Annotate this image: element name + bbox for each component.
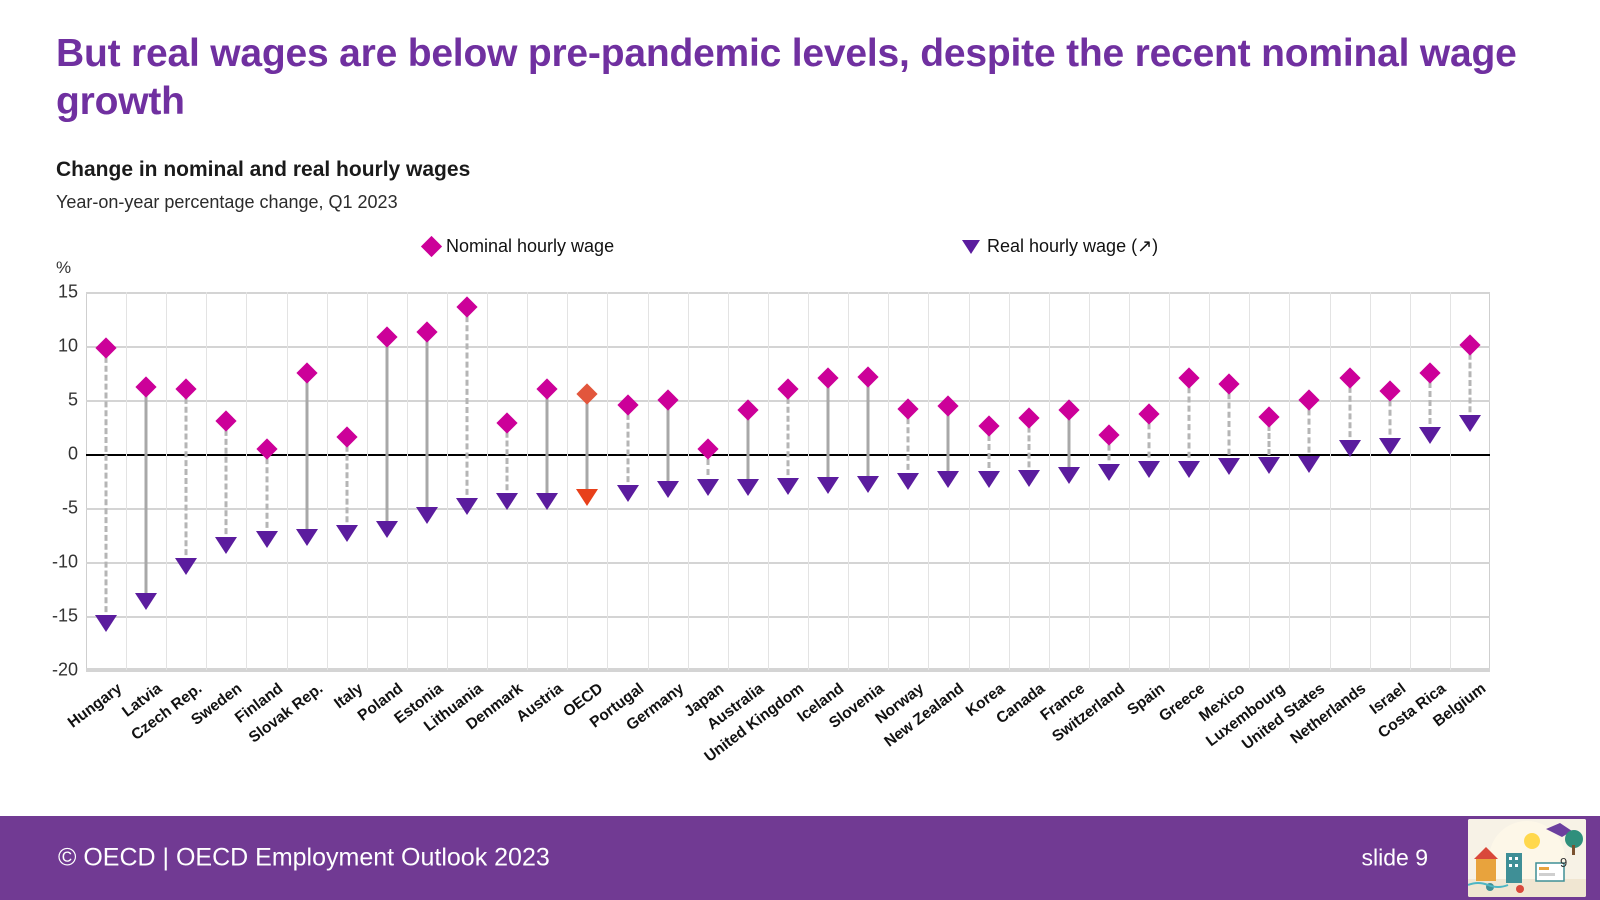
connector-line	[345, 437, 348, 531]
nominal-wage-marker[interactable]	[497, 412, 518, 433]
real-wage-marker[interactable]	[1058, 467, 1080, 484]
vertical-gridline	[287, 292, 288, 670]
vertical-gridline	[166, 292, 167, 670]
nominal-wage-marker[interactable]	[1339, 368, 1360, 389]
vertical-gridline	[1209, 292, 1210, 670]
real-wage-marker[interactable]	[897, 473, 919, 490]
illustration-icon: 9	[1468, 819, 1586, 897]
vertical-gridline	[607, 292, 608, 670]
connector-line	[1468, 345, 1471, 421]
nominal-wage-marker[interactable]	[737, 399, 758, 420]
real-wage-marker[interactable]	[817, 477, 839, 494]
vertical-gridline	[567, 292, 568, 670]
real-wage-marker[interactable]	[215, 537, 237, 554]
chart-legend: Nominal hourly wage Real hourly wage (↗)	[0, 236, 1600, 262]
real-wage-marker[interactable]	[978, 471, 1000, 488]
nominal-wage-marker[interactable]	[818, 368, 839, 389]
vertical-gridline	[928, 292, 929, 670]
nominal-wage-marker[interactable]	[1219, 373, 1240, 394]
nominal-wage-marker[interactable]	[1299, 389, 1320, 410]
real-wage-marker[interactable]	[1419, 427, 1441, 444]
vertical-gridline	[728, 292, 729, 670]
vertical-gridline	[367, 292, 368, 670]
gridline--20	[86, 670, 1490, 672]
vertical-gridline	[848, 292, 849, 670]
real-wage-marker[interactable]	[256, 531, 278, 548]
y-tick-label: -10	[32, 552, 78, 573]
vertical-gridline	[527, 292, 528, 670]
vertical-gridline	[1330, 292, 1331, 670]
real-wage-marker[interactable]	[777, 478, 799, 495]
real-wage-marker[interactable]	[576, 489, 598, 506]
legend-item-nominal[interactable]: Nominal hourly wage	[424, 236, 614, 257]
vertical-gridline	[407, 292, 408, 670]
y-tick-label: 5	[32, 390, 78, 411]
plot-right-border	[1489, 292, 1490, 670]
real-wage-marker[interactable]	[1218, 458, 1240, 475]
vertical-gridline	[246, 292, 247, 670]
vertical-gridline	[1370, 292, 1371, 670]
vertical-gridline	[648, 292, 649, 670]
connector-line	[746, 410, 749, 486]
nominal-wage-marker[interactable]	[1058, 399, 1079, 420]
vertical-gridline	[969, 292, 970, 670]
gridline--5	[86, 508, 1490, 510]
vertical-gridline	[1450, 292, 1451, 670]
nominal-wage-marker[interactable]	[537, 379, 558, 400]
connector-line	[265, 449, 268, 538]
real-wage-marker[interactable]	[336, 525, 358, 542]
real-wage-marker[interactable]	[135, 593, 157, 610]
gridline--15	[86, 616, 1490, 618]
vertical-gridline	[487, 292, 488, 670]
nominal-wage-marker[interactable]	[697, 438, 718, 459]
nominal-wage-marker[interactable]	[136, 376, 157, 397]
footer-slide-number: slide 9	[1362, 845, 1428, 872]
y-axis-unit: %	[56, 258, 71, 278]
nominal-wage-marker[interactable]	[1259, 407, 1280, 428]
legend-label-real: Real hourly wage (↗)	[987, 236, 1158, 257]
real-wage-marker[interactable]	[1459, 415, 1481, 432]
gridline--10	[86, 562, 1490, 564]
connector-line	[787, 389, 790, 484]
y-tick-label: 0	[32, 444, 78, 465]
real-wage-marker[interactable]	[536, 493, 558, 510]
nominal-wage-marker[interactable]	[256, 438, 277, 459]
diamond-marker-icon	[421, 236, 442, 257]
vertical-gridline	[327, 292, 328, 670]
vertical-gridline	[888, 292, 889, 670]
connector-line	[546, 389, 549, 499]
page-title: But real wages are below pre-pandemic le…	[56, 30, 1536, 125]
nominal-wage-marker[interactable]	[777, 379, 798, 400]
gridline-15	[86, 292, 1490, 294]
real-wage-marker[interactable]	[1178, 461, 1200, 478]
real-wage-marker[interactable]	[175, 558, 197, 575]
triangle-down-marker-icon	[962, 240, 980, 254]
connector-line	[1228, 384, 1231, 464]
real-wage-marker[interactable]	[697, 479, 719, 496]
vertical-gridline	[1089, 292, 1090, 670]
connector-line	[425, 332, 428, 513]
vertical-gridline	[688, 292, 689, 670]
connector-line	[225, 421, 228, 543]
vertical-gridline	[447, 292, 448, 670]
real-wage-marker[interactable]	[376, 521, 398, 538]
vertical-gridline	[1049, 292, 1050, 670]
thumbnail-number: 9	[1560, 855, 1567, 870]
vertical-gridline	[808, 292, 809, 670]
real-wage-marker[interactable]	[1339, 440, 1361, 457]
connector-line	[105, 348, 108, 621]
real-wage-marker[interactable]	[737, 479, 759, 496]
real-wage-marker[interactable]	[617, 485, 639, 502]
nominal-wage-marker[interactable]	[416, 321, 437, 342]
connector-line	[867, 377, 870, 482]
vertical-gridline	[1249, 292, 1250, 670]
slide-footer: © OECD | OECD Employment Outlook 2023 sl…	[0, 816, 1600, 900]
vertical-gridline	[1169, 292, 1170, 670]
legend-item-real[interactable]: Real hourly wage (↗)	[962, 236, 1158, 257]
real-wage-marker[interactable]	[95, 615, 117, 632]
connector-line	[586, 394, 589, 496]
footer-copyright: © OECD | OECD Employment Outlook 2023	[58, 844, 550, 873]
connector-line	[145, 387, 148, 599]
real-wage-marker[interactable]	[1138, 461, 1160, 478]
vertical-gridline	[1410, 292, 1411, 670]
x-tick-label: Hungary	[65, 680, 126, 732]
real-wage-marker[interactable]	[456, 498, 478, 515]
nominal-wage-marker[interactable]	[176, 379, 197, 400]
y-axis-tick-labels: 151050-5-10-15-20	[24, 292, 78, 670]
vertical-gridline	[1289, 292, 1290, 670]
y-tick-label: 15	[32, 282, 78, 303]
vertical-gridline	[126, 292, 127, 670]
vertical-gridline	[768, 292, 769, 670]
nominal-wage-marker[interactable]	[1098, 424, 1119, 445]
slide-root: But real wages are below pre-pandemic le…	[0, 0, 1600, 900]
footer-thumbnail-image: 9	[1468, 819, 1586, 897]
plot-left-border	[86, 292, 87, 670]
real-wage-marker[interactable]	[1258, 457, 1280, 474]
nominal-wage-marker[interactable]	[216, 410, 237, 431]
nominal-wage-marker[interactable]	[1018, 408, 1039, 429]
nominal-wage-marker[interactable]	[296, 362, 317, 383]
chart-subsubtitle: Year-on-year percentage change, Q1 2023	[56, 192, 398, 213]
nominal-wage-marker[interactable]	[376, 327, 397, 348]
real-wage-marker[interactable]	[657, 481, 679, 498]
real-wage-marker[interactable]	[1298, 456, 1320, 473]
real-wage-marker[interactable]	[1098, 464, 1120, 481]
connector-line	[827, 378, 830, 483]
nominal-wage-marker[interactable]	[336, 426, 357, 447]
nominal-wage-marker[interactable]	[1379, 381, 1400, 402]
connector-line	[1188, 378, 1191, 467]
gridline-10	[86, 346, 1490, 348]
connector-line	[666, 400, 669, 487]
legend-label-nominal: Nominal hourly wage	[446, 236, 614, 257]
nominal-wage-marker[interactable]	[858, 367, 879, 388]
vertical-gridline	[1129, 292, 1130, 670]
nominal-wage-marker[interactable]	[95, 338, 116, 359]
chart-plot-area	[86, 292, 1490, 670]
nominal-wage-marker[interactable]	[1138, 403, 1159, 424]
real-wage-marker[interactable]	[857, 476, 879, 493]
nominal-wage-marker[interactable]	[657, 389, 678, 410]
nominal-wage-marker[interactable]	[1459, 334, 1480, 355]
y-tick-label: -15	[32, 606, 78, 627]
real-wage-marker[interactable]	[416, 507, 438, 524]
nominal-wage-marker[interactable]	[978, 415, 999, 436]
nominal-wage-marker[interactable]	[456, 297, 477, 318]
x-axis-tick-labels: HungaryLatviaCzech Rep.SwedenFinlandSlov…	[86, 676, 1490, 776]
connector-line	[626, 405, 629, 490]
chart-canvas	[86, 292, 1490, 670]
y-tick-label: -5	[32, 498, 78, 519]
real-wage-marker[interactable]	[1018, 470, 1040, 487]
nominal-wage-marker[interactable]	[1179, 368, 1200, 389]
connector-line	[506, 423, 509, 500]
connector-line	[466, 307, 469, 504]
connector-line	[185, 389, 188, 564]
nominal-wage-marker[interactable]	[1419, 362, 1440, 383]
real-wage-marker[interactable]	[296, 529, 318, 546]
y-tick-label: 10	[32, 336, 78, 357]
connector-line	[305, 373, 308, 535]
vertical-gridline	[206, 292, 207, 670]
real-wage-marker[interactable]	[1379, 438, 1401, 455]
chart-subtitle: Change in nominal and real hourly wages	[56, 158, 470, 182]
real-wage-marker[interactable]	[496, 493, 518, 510]
connector-line	[385, 337, 388, 527]
vertical-gridline	[1009, 292, 1010, 670]
real-wage-marker[interactable]	[937, 471, 959, 488]
y-tick-label: -20	[32, 660, 78, 681]
nominal-wage-marker[interactable]	[617, 395, 638, 416]
